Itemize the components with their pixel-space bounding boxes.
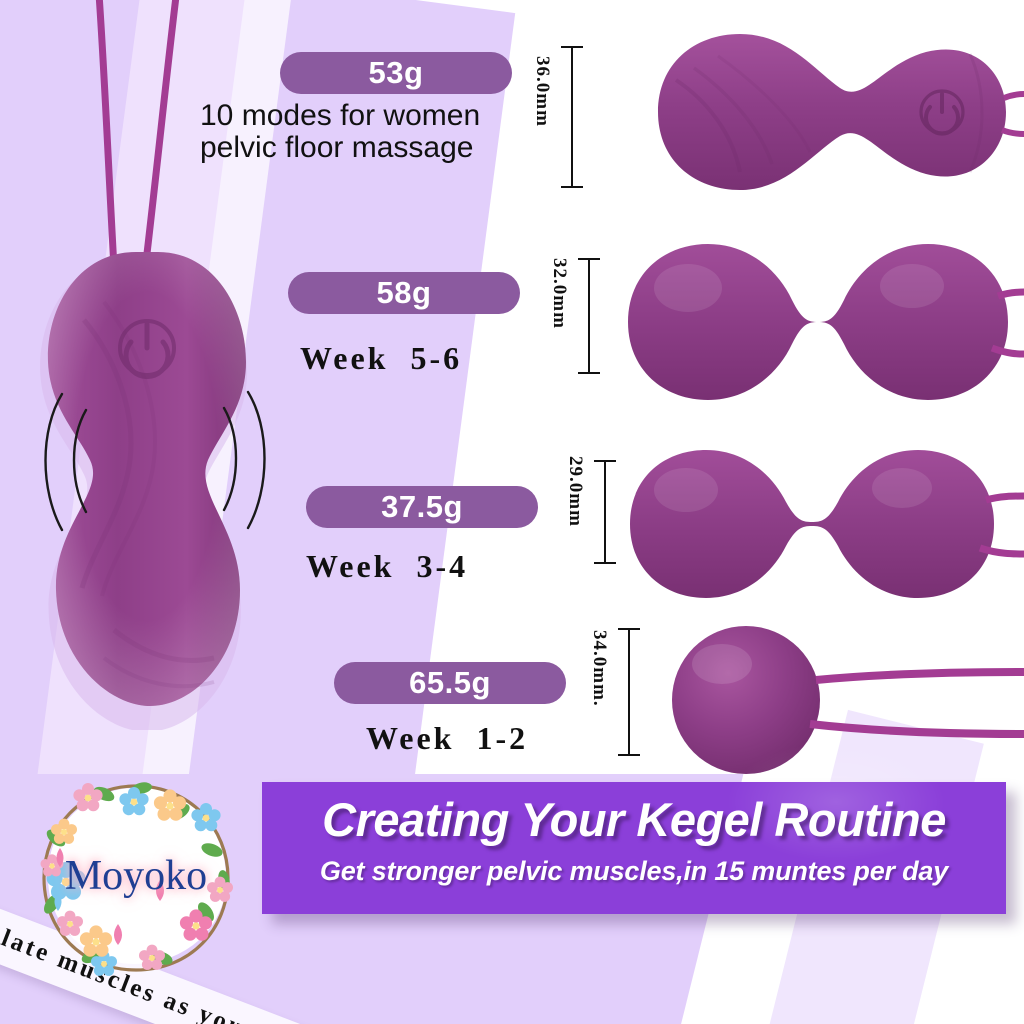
dimension-label-4: 34.0mm. <box>588 630 610 707</box>
dimension-label-1: 36.0mm <box>531 56 553 127</box>
product-image-2 <box>612 238 1024 408</box>
banner-subtitle: Get stronger pelvic muscles,in 15 muntes… <box>262 856 1006 887</box>
weight-badge-2: 58g <box>288 272 520 314</box>
row-description-2: Week 5-6 <box>300 340 462 377</box>
dimension-label-2: 32.0mm <box>548 258 570 329</box>
brand-logo: Moyoko <box>30 772 242 984</box>
product-image-1 <box>614 24 1024 204</box>
row-description-1: 10 modes for women pelvic floor massage <box>200 100 545 165</box>
weight-badge-1: 53g <box>280 52 512 94</box>
product-image-3 <box>614 444 1024 604</box>
banner-title: Creating Your Kegel Routine <box>262 792 1006 847</box>
row-description-4: Week 1-2 <box>366 720 528 757</box>
weight-badge-4: 65.5g <box>334 662 566 704</box>
bottom-banner: Creating Your Kegel Routine Get stronger… <box>262 782 1006 914</box>
row-description-3: Week 3-4 <box>306 548 468 585</box>
weight-badge-3: 37.5g <box>306 486 538 528</box>
infographic-canvas: 53g 10 modes for women pelvic floor mass… <box>0 0 1024 1024</box>
logo-brand-text: Moyoko <box>30 852 242 900</box>
dimension-label-3: 29.0mm <box>564 456 586 527</box>
